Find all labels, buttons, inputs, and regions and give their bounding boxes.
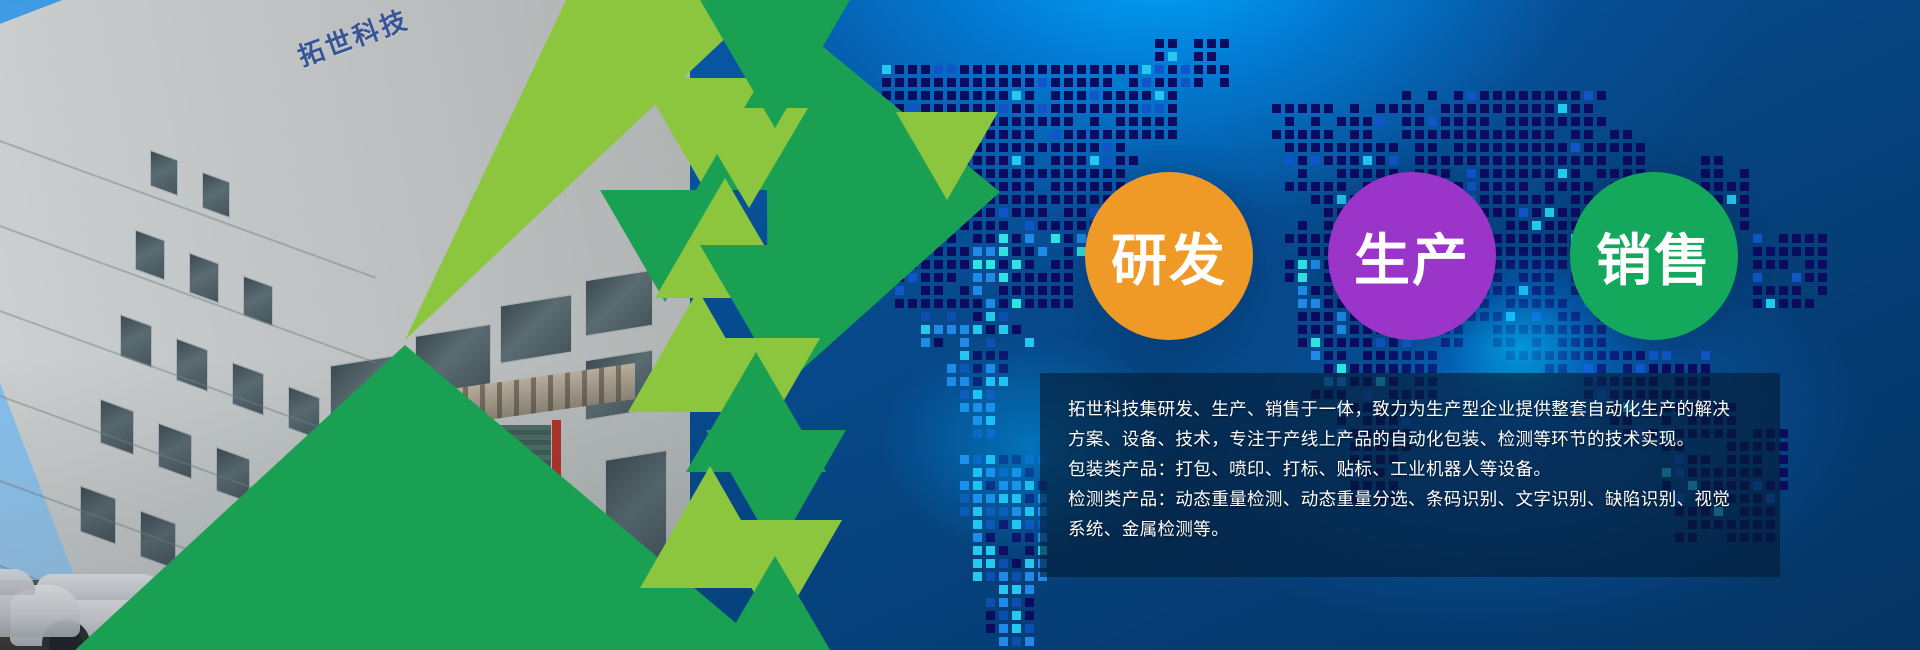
- badge-sales[interactable]: 销售: [1570, 172, 1738, 340]
- description-line: 方案、设备、技术，专注于产线上产品的自动化包装、检测等环节的技术实现。: [1068, 425, 1752, 455]
- description-line: 检测类产品：动态重量检测、动态重量分选、条码识别、文字识别、缺陷识别、视觉: [1068, 485, 1752, 515]
- badge-sales-label: 销售: [1596, 216, 1712, 297]
- description-line: 包装类产品：打包、喷印、打标、贴标、工业机器人等设备。: [1068, 455, 1752, 485]
- decorative-triangle: [700, 0, 850, 128]
- decorative-triangle: [700, 556, 850, 650]
- badge-rd[interactable]: 研发: [1085, 172, 1253, 340]
- description-line: 拓世科技集研发、生产、销售于一体，致力为生产型企业提供整套自动化生产的解决: [1068, 395, 1752, 425]
- badge-rd-label: 研发: [1111, 216, 1227, 297]
- badge-production-label: 生产: [1354, 216, 1470, 297]
- promo-banner: 拓世科技 研发 生产 销售 拓世科技集研发、生产、销售于一体，致力为生产型企业提…: [0, 0, 1920, 650]
- description-line: 系统、金属检测等。: [1068, 515, 1752, 545]
- description-text: 拓世科技集研发、生产、销售于一体，致力为生产型企业提供整套自动化生产的解决方案、…: [1040, 373, 1780, 545]
- badge-production[interactable]: 生产: [1328, 172, 1496, 340]
- description-panel: 拓世科技集研发、生产、销售于一体，致力为生产型企业提供整套自动化生产的解决方案、…: [1040, 373, 1780, 577]
- decorative-triangle: [896, 112, 998, 200]
